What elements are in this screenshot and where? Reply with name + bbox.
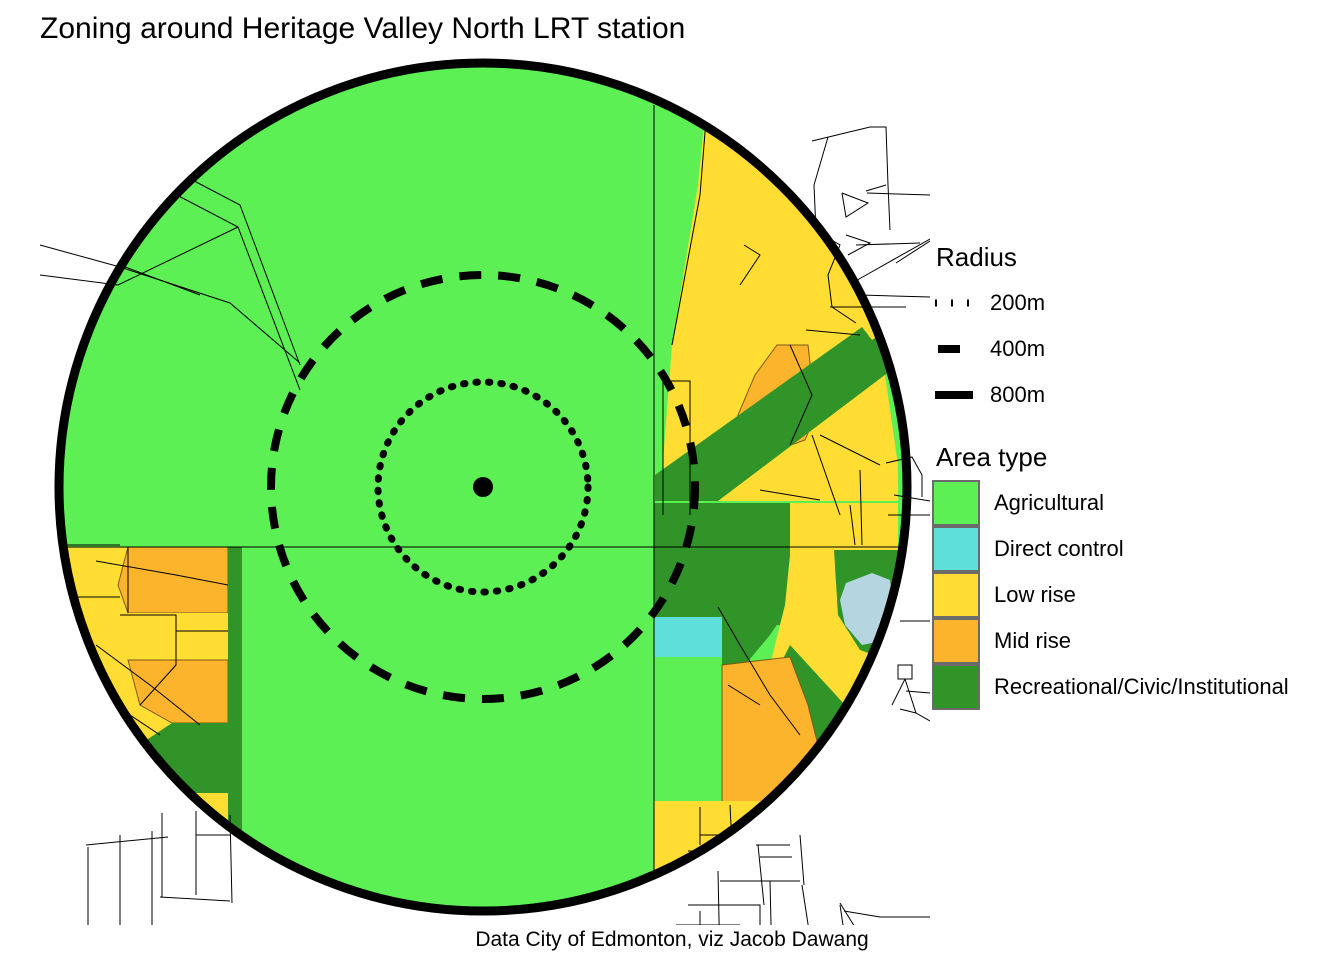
legend-label-200m: 200m <box>990 290 1045 316</box>
legend-label-direct-control: Direct control <box>994 536 1124 562</box>
legend-label-agricultural: Agricultural <box>994 490 1104 516</box>
swatch-mid-rise <box>932 618 980 664</box>
legend-item-direct-control[interactable]: Direct control <box>932 526 1289 572</box>
area-low-rise-west-mid <box>128 613 228 660</box>
area-recreational-east-rect <box>654 503 794 625</box>
legend-item-mid-rise[interactable]: Mid rise <box>932 618 1289 664</box>
map-plot[interactable] <box>0 45 930 925</box>
legend-item-agricultural[interactable]: Agricultural <box>932 480 1289 526</box>
legend-label-low-rise: Low rise <box>994 582 1076 608</box>
legend-label-mid-rise: Mid rise <box>994 628 1071 654</box>
legend-label-400m: 400m <box>990 336 1045 362</box>
area-recreational-west-strip <box>228 547 242 917</box>
legend-radius-group: Radius 200m 400m <box>932 240 1045 418</box>
station-point[interactable] <box>473 477 493 497</box>
data-source-caption: Data City of Edmonton, viz Jacob Dawang <box>0 928 1344 952</box>
legend-radius-heading: Radius <box>936 240 1045 274</box>
legend-label-800m: 800m <box>990 382 1045 408</box>
legend-item-200m[interactable]: 200m <box>932 280 1045 326</box>
area-direct-control <box>654 617 722 657</box>
legend-item-400m[interactable]: 400m <box>932 326 1045 372</box>
swatch-low-rise <box>932 572 980 618</box>
swatch-recreational <box>932 664 980 710</box>
water-body-outflow <box>894 617 924 629</box>
legend-item-800m[interactable]: 800m <box>932 372 1045 418</box>
solid-line-icon <box>932 373 976 417</box>
legend-item-recreational[interactable]: Recreational/Civic/Institutional <box>932 664 1289 710</box>
dashed-line-icon <box>932 327 976 371</box>
map-page: Zoning around Heritage Valley North LRT … <box>0 0 1344 960</box>
area-mid-rise-west-upper <box>118 547 228 613</box>
map-svg[interactable] <box>0 45 930 925</box>
legend-area-type-group: Area type Agricultural Direct control Lo… <box>932 440 1289 710</box>
swatch-direct-control <box>932 526 980 572</box>
page-title: Zoning around Heritage Valley North LRT … <box>40 12 685 46</box>
legend-item-low-rise[interactable]: Low rise <box>932 572 1289 618</box>
legend-label-recreational: Recreational/Civic/Institutional <box>994 674 1289 700</box>
area-low-rise-se2 <box>654 801 790 905</box>
swatch-agricultural <box>932 480 980 526</box>
dotted-line-icon <box>932 281 976 325</box>
legend-area-type-heading: Area type <box>936 440 1289 474</box>
